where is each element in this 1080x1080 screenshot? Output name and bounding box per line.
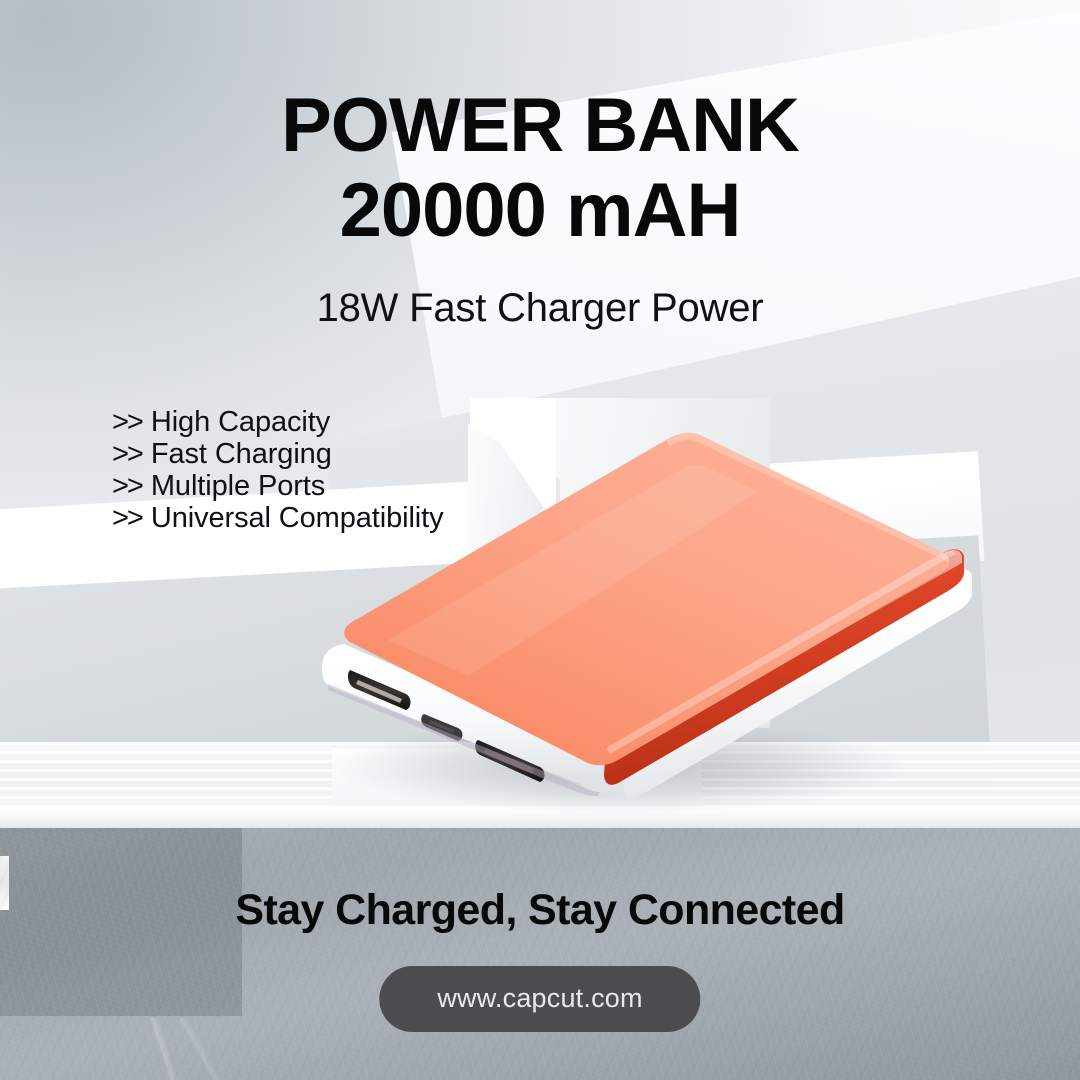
chevron-double-right-icon: >>: [112, 502, 142, 534]
micro-usb-port: [475, 740, 544, 782]
product-pedestal-side: [468, 424, 560, 779]
chevron-double-right-icon: >>: [112, 438, 142, 470]
usb-a-port: [348, 670, 411, 710]
list-item: >>High Capacity: [112, 406, 444, 438]
list-item: >>Universal Compatibility: [112, 502, 444, 534]
feature-label: Universal Compatibility: [151, 502, 444, 534]
power-bank-top-edge-highlight: [666, 433, 949, 563]
usb-c-port: [421, 714, 462, 741]
background-plane-upper-right: [392, 0, 1080, 546]
website-url-pill[interactable]: www.capcut.com: [379, 966, 700, 1032]
background-shelf-stripes: [0, 742, 1080, 838]
feature-label: Multiple Ports: [151, 470, 325, 502]
background-shelf-block: [332, 748, 702, 810]
product-shadow: [328, 718, 908, 814]
list-item: >>Multiple Ports: [112, 470, 444, 502]
power-bank-body-white: [322, 644, 634, 797]
chevron-double-right-icon: >>: [112, 406, 142, 438]
feature-label: Fast Charging: [151, 438, 332, 470]
power-bank-side-strip: [604, 549, 964, 785]
power-bank-base-right: [624, 569, 972, 799]
headline-line-2: 20000 mAH: [0, 168, 1080, 254]
headline-line-1: POWER BANK: [0, 84, 1080, 168]
power-bank-side-strip-gloss: [608, 550, 962, 760]
feature-list: >>High Capacity >>Fast Charging >>Multip…: [112, 406, 444, 534]
page-title: POWER BANK 20000 mAH: [0, 84, 1080, 254]
subtitle: 18W Fast Charger Power: [0, 284, 1080, 332]
product-pedestal-bevel: [470, 398, 556, 526]
bottom-panel-scratch-texture: [20, 1018, 320, 1080]
poster-canvas: POWER BANK 20000 mAH 18W Fast Charger Po…: [0, 0, 1080, 1080]
power-bank-base-reflection: [328, 684, 600, 796]
product-pedestal: [470, 398, 770, 728]
chevron-double-right-icon: >>: [112, 470, 142, 502]
tagline: Stay Charged, Stay Connected: [0, 884, 1080, 936]
list-item: >>Fast Charging: [112, 438, 444, 470]
feature-label: High Capacity: [151, 406, 330, 438]
bottom-texture-panel: [0, 828, 1080, 1080]
power-bank-seam: [606, 551, 956, 754]
